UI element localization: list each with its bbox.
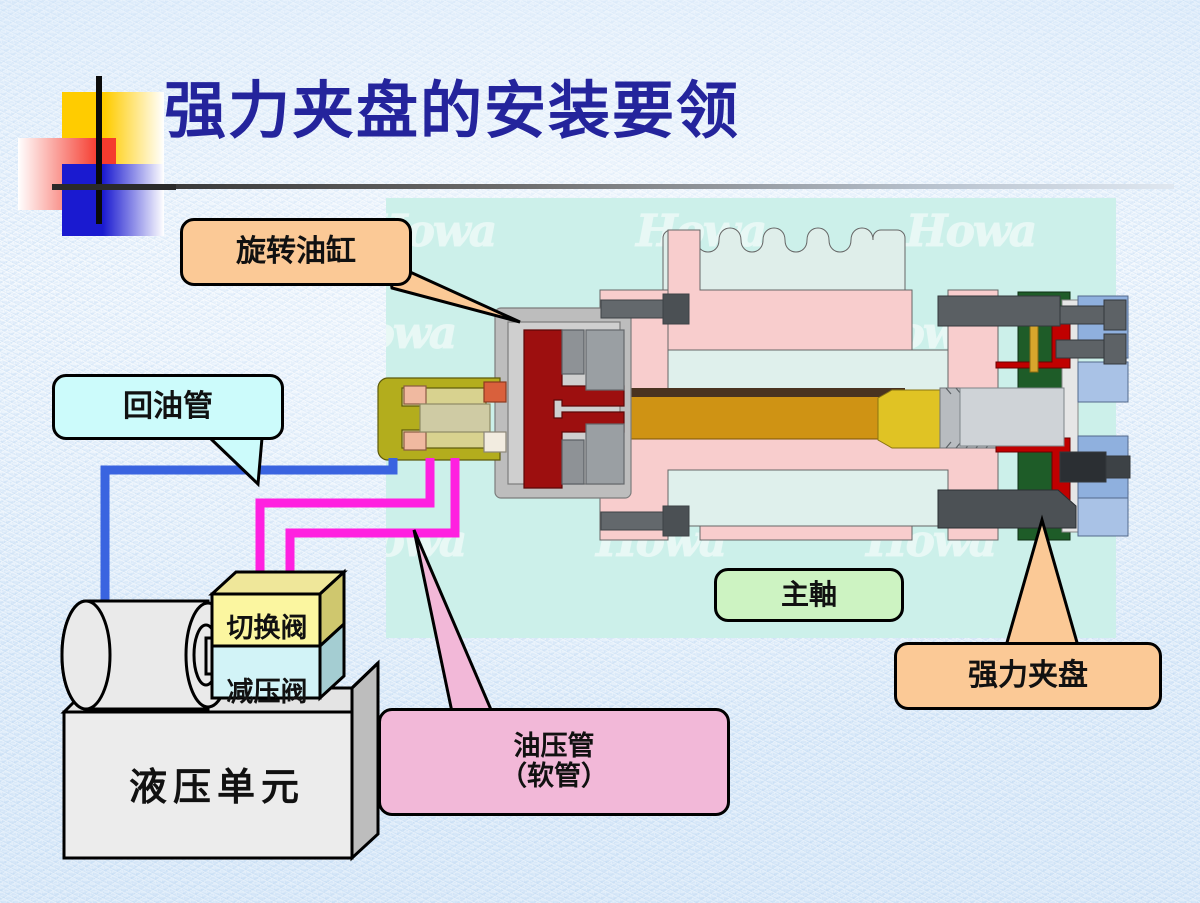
callout-power-chuck[interactable]: 强力夹盘 [894, 642, 1162, 710]
callout-hydraulic-hose-label-line2: （软管） [500, 762, 608, 792]
callout-return-pipe[interactable]: 回油管 [52, 374, 284, 440]
callout-hydraulic-hose[interactable]: 油压管 （软管） [378, 708, 730, 816]
callout-spindle-label: 主軸 [781, 579, 837, 610]
callout-return-pipe-label: 回油管 [123, 390, 213, 424]
callout-rotary-cylinder[interactable]: 旋转油缸 [180, 218, 412, 286]
callout-tail-return-pipe [210, 438, 262, 484]
callout-hydraulic-hose-label-line1: 油压管 [514, 732, 595, 762]
callout-power-chuck-label: 强力夹盘 [968, 659, 1088, 693]
callout-rotary-cylinder-label: 旋转油缸 [236, 235, 356, 269]
callout-tail-hydraulic-hose [414, 530, 492, 712]
callout-tail-power-chuck [1006, 520, 1078, 646]
callout-spindle[interactable]: 主軸 [714, 568, 904, 622]
